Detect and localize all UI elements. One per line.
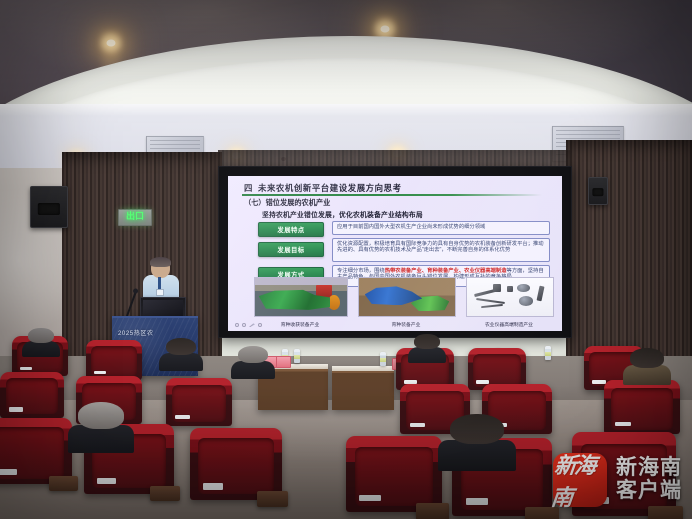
auditorium-seat <box>166 378 232 426</box>
attendee-person <box>28 328 54 354</box>
slide-title-number: 四 <box>244 183 253 193</box>
slide-title-underline <box>242 194 542 196</box>
slide-photo-3 <box>466 277 554 317</box>
auditorium-seat <box>0 418 72 484</box>
auditorium-seat <box>86 340 142 380</box>
slide-label-box-1: 发展特点 <box>258 222 324 237</box>
slide-label-box-2: 发展目标 <box>258 242 324 257</box>
speaker-icon <box>588 177 608 205</box>
slide-text-box-1: 应用于目前国内国外大型农机生产企业尚未形成优势的细分领域 <box>332 221 550 235</box>
slide-photo-caption-1: 育种收获装备产业 <box>254 321 346 328</box>
attendee-person <box>414 334 440 360</box>
speaker-icon <box>30 186 68 228</box>
slide-photo-caption-2: 育种装备产业 <box>358 321 454 328</box>
water-bottle-icon <box>545 346 551 360</box>
powerpoint-presenter-controls[interactable] <box>235 323 262 327</box>
podium-banner-text: 2025热区农 <box>118 328 194 337</box>
slide-subheading: 坚持农机产业错位发展，优化农机装备产业结构布局 <box>262 209 423 219</box>
previous-slide-icon[interactable] <box>235 323 239 327</box>
watermark: 新海南 新海南 客户端 <box>553 453 682 507</box>
slide-photo-2 <box>358 277 456 317</box>
watermark-text-block: 新海南 客户端 <box>616 457 682 502</box>
water-bottle-icon <box>294 349 300 363</box>
watermark-line-1: 新海南 <box>616 457 682 480</box>
auditorium-seat <box>346 436 442 512</box>
attendee-person <box>78 402 124 448</box>
conference-hall-photo: 出口 四未来农机创新平台建设发展方向思考 （七）错位发展的农机产业 坚持农机产业… <box>0 0 692 519</box>
attendee-person <box>166 338 196 368</box>
auditorium-seat <box>190 428 282 500</box>
exit-sign: 出口 <box>118 209 152 226</box>
watermark-line-2: 客户端 <box>616 480 682 503</box>
next-slide-icon[interactable] <box>242 323 246 327</box>
slide-section-heading: （七）错位发展的农机产业 <box>244 198 330 208</box>
watermark-logo-text: 新海南 <box>550 448 611 512</box>
exit-sign-label: 出口 <box>126 213 144 222</box>
slide-photo-1 <box>254 277 348 317</box>
name-card-icon <box>276 356 291 368</box>
pen-tool-icon[interactable] <box>249 323 255 327</box>
watermark-logo-icon: 新海南 <box>553 453 607 507</box>
auditorium-seat <box>0 372 64 418</box>
attendee-person <box>450 414 504 466</box>
ceiling-downlight-icon <box>96 28 126 58</box>
attendee-person <box>238 346 268 376</box>
projection-screen: 四未来农机创新平台建设发展方向思考 （七）错位发展的农机产业 坚持农机产业错位发… <box>218 166 572 338</box>
slide-menu-icon[interactable] <box>258 323 262 327</box>
slide-title-row: 四未来农机创新平台建设发展方向思考 <box>244 182 552 194</box>
water-bottle-icon <box>380 352 386 366</box>
auditorium-seat <box>604 380 680 434</box>
presentation-slide: 四未来农机创新平台建设发展方向思考 （七）错位发展的农机产业 坚持农机产业错位发… <box>228 176 562 331</box>
slide-title-text: 未来农机创新平台建设发展方向思考 <box>258 183 402 193</box>
side-desk <box>332 366 394 410</box>
slide-photo-caption-3: 农业仪器高端制造产业 <box>466 321 552 328</box>
slide-text-box-2: 优化资源配置，积极培育具有国际竞争力的具有自身优势的农机装备创新研发平台；推动先… <box>332 238 550 262</box>
attendee-person <box>630 348 664 382</box>
